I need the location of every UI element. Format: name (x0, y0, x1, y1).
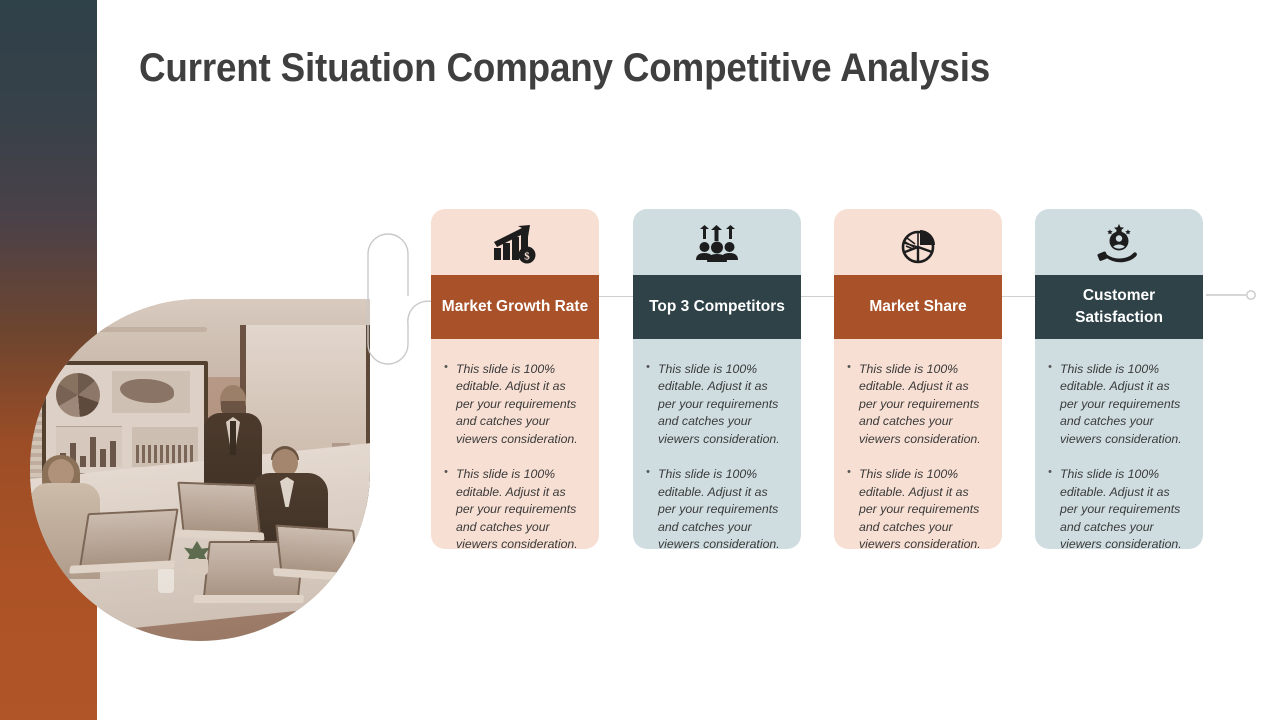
card-body: This slide is 100% editable. Adjust it a… (834, 339, 1002, 549)
bullet-list: This slide is 100% editable. Adjust it a… (1047, 361, 1189, 549)
photo-map-chart (112, 371, 190, 413)
list-item: This slide is 100% editable. Adjust it a… (443, 361, 585, 448)
photo-pie-chart (56, 373, 100, 417)
card-top-3-competitors[interactable]: Top 3 Competitors This slide is 100% edi… (633, 209, 801, 549)
photo-laptop (275, 524, 354, 573)
card-title-customer-satisfaction: Customer Satisfaction (1035, 275, 1203, 339)
bullet-list: This slide is 100% editable. Adjust it a… (846, 361, 988, 549)
bullet-list: This slide is 100% editable. Adjust it a… (443, 361, 585, 549)
list-item: This slide is 100% editable. Adjust it a… (645, 466, 787, 549)
card-title-market-growth-rate: Market Growth Rate (431, 275, 599, 339)
card-market-growth-rate[interactable]: $ Market Growth Rate This slide is 100% … (431, 209, 599, 549)
growth-chart-dollar-icon: $ (431, 209, 599, 275)
photo-plant (182, 541, 212, 575)
slide-canvas: Current Situation Company Competitive An… (0, 0, 1280, 720)
photo-image (30, 299, 370, 641)
list-item: This slide is 100% editable. Adjust it a… (1047, 361, 1189, 448)
card-body: This slide is 100% editable. Adjust it a… (431, 339, 599, 549)
list-item: This slide is 100% editable. Adjust it a… (846, 361, 988, 448)
card-title-market-share: Market Share (834, 275, 1002, 339)
cards-row: $ Market Growth Rate This slide is 100% … (431, 209, 1207, 549)
hand-customer-stars-icon (1035, 209, 1203, 275)
page-title: Current Situation Company Competitive An… (139, 46, 1142, 91)
photo-laptop (177, 482, 256, 533)
card-body: This slide is 100% editable. Adjust it a… (633, 339, 801, 549)
right-endpoint-connector (1206, 288, 1260, 302)
photo-histogram (132, 427, 198, 467)
card-title-top-3-competitors: Top 3 Competitors (633, 275, 801, 339)
photo-water-glass (158, 569, 174, 593)
card-market-share[interactable]: Market Share This slide is 100% editable… (834, 209, 1002, 549)
list-item: This slide is 100% editable. Adjust it a… (645, 361, 787, 448)
boardroom-photo (30, 299, 370, 641)
card-body: This slide is 100% editable. Adjust it a… (1035, 339, 1203, 549)
photo-laptop (79, 509, 174, 565)
list-item: This slide is 100% editable. Adjust it a… (443, 466, 585, 549)
list-item: This slide is 100% editable. Adjust it a… (846, 466, 988, 549)
bullet-list: This slide is 100% editable. Adjust it a… (645, 361, 787, 549)
list-item: This slide is 100% editable. Adjust it a… (1047, 466, 1189, 549)
svg-text:$: $ (524, 250, 530, 262)
people-growth-arrows-icon (633, 209, 801, 275)
card-customer-satisfaction[interactable]: Customer Satisfaction This slide is 100%… (1035, 209, 1203, 549)
pie-chart-icon (834, 209, 1002, 275)
